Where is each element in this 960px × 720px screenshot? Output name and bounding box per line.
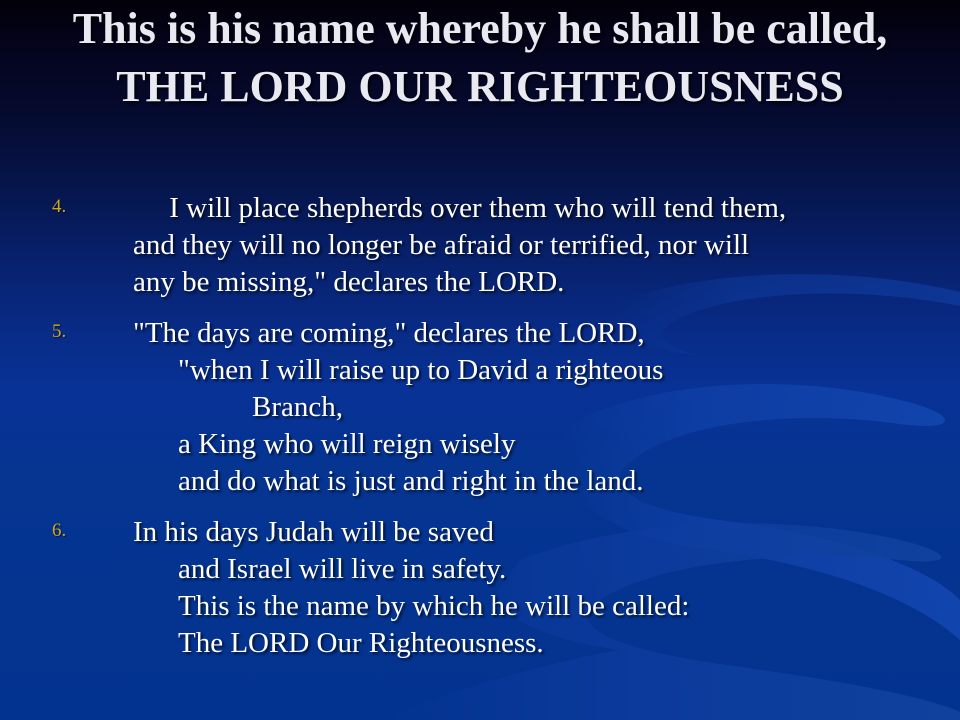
text-line: "when I will raise up to David a righteo… [0, 352, 960, 389]
list-item: 5. "The days are coming," declares the L… [0, 315, 960, 500]
text-line: Branch, [0, 389, 960, 426]
text-line: and Israel will live in safety. [0, 551, 960, 588]
text-line: any be missing," declares the LORD. [0, 264, 960, 301]
slide-title: This is his name whereby he shall be cal… [30, 0, 930, 116]
list-item-lines: "The days are coming," declares the LORD… [0, 315, 960, 500]
text-line: The LORD Our Righteousness. [0, 625, 960, 662]
text-line: "The days are coming," declares the LORD… [0, 315, 960, 352]
text-line: In his days Judah will be saved [0, 514, 960, 551]
list-item-lines: I will place shepherds over them who wil… [0, 190, 960, 301]
text-line: and do what is just and right in the lan… [0, 463, 960, 500]
list-item-number: 5. [52, 321, 92, 343]
slide-body-list: 4. I will place shepherds over them who … [0, 190, 960, 676]
list-item-number: 6. [52, 520, 92, 542]
list-item-lines: In his days Judah will be saved and Isra… [0, 514, 960, 662]
list-item: 6. In his days Judah will be saved and I… [0, 514, 960, 662]
text-line: This is the name by which he will be cal… [0, 588, 960, 625]
list-item-number: 4. [52, 196, 92, 218]
text-line: and they will no longer be afraid or ter… [0, 227, 960, 264]
text-line: I will place shepherds over them who wil… [0, 190, 960, 227]
text-line: a King who will reign wisely [0, 426, 960, 463]
list-item: 4. I will place shepherds over them who … [0, 190, 960, 301]
presentation-slide: This is his name whereby he shall be cal… [0, 0, 960, 720]
